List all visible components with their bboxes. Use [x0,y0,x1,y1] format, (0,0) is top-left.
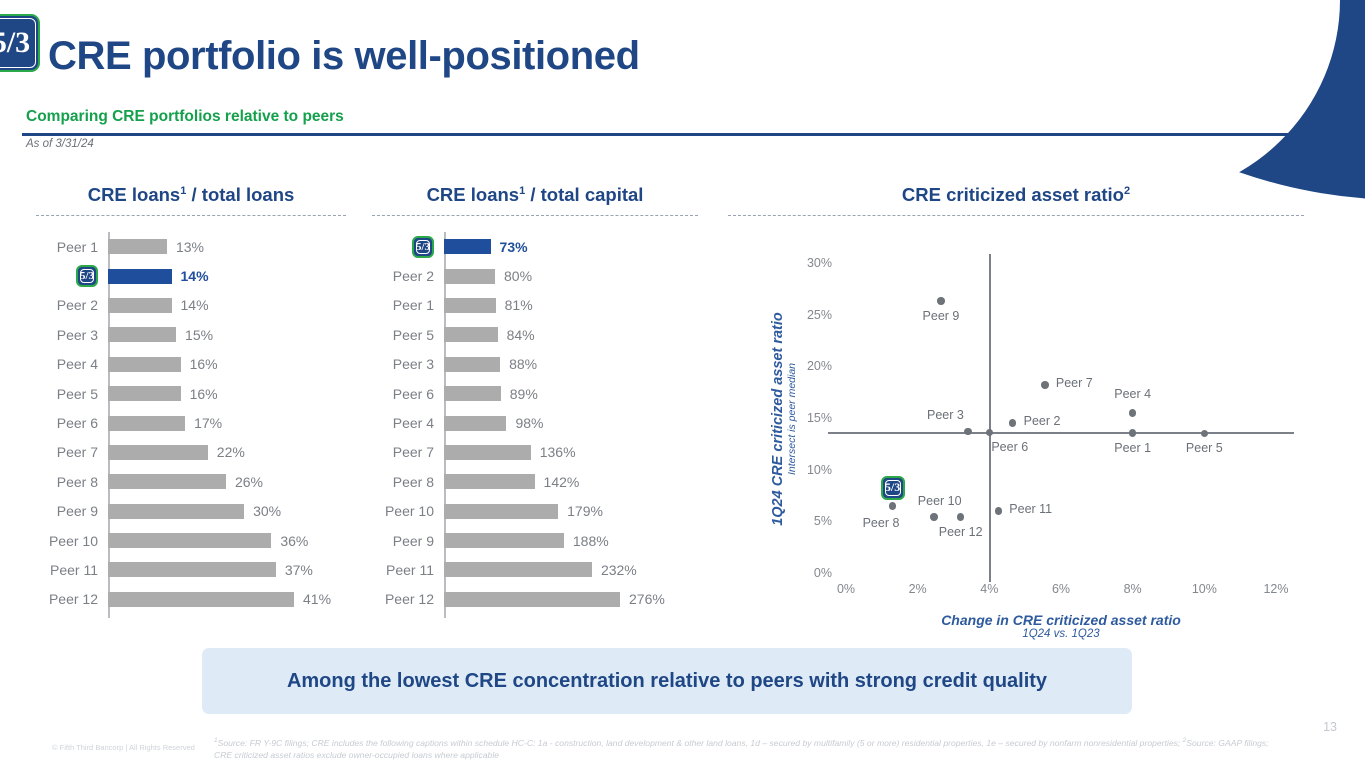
bar [444,474,535,489]
bar-category-label: Peer 2 [372,268,444,284]
bar-category-label: Peer 7 [36,444,108,460]
bar-row: Peer 280% [372,261,698,290]
panel-title-tail: / total loans [186,184,294,205]
bar-category-label: Peer 3 [372,356,444,372]
as-of-date: As of 3/31/24 [26,138,94,150]
bar [444,562,592,577]
page-title: CRE portfolio is well-positioned [48,34,640,79]
bar-row: Peer 617% [36,408,346,437]
scatter-point [1201,430,1209,438]
logo-glyph: 5/3 [0,16,38,70]
bar-row: 5/373% [372,232,698,261]
bar-row: Peer 10179% [372,497,698,526]
x-axis-tick-label: 12% [1251,582,1301,596]
x-axis-tick-label: 10% [1179,582,1229,596]
bar-row: Peer 689% [372,379,698,408]
bar [444,357,500,372]
bar-category-label: Peer 5 [372,327,444,343]
panel-title-text: CRE loans [427,184,520,205]
scatter-point-label: Peer 9 [915,309,967,323]
bar [108,416,185,431]
bar-value-label: 80% [504,268,532,284]
bar-category-label: Peer 11 [36,562,108,578]
bar-row: Peer 1241% [36,585,346,614]
bar-category-label: Peer 9 [36,503,108,519]
section-subheading: Comparing CRE portfolios relative to pee… [26,108,344,126]
bar-row: Peer 722% [36,438,346,467]
bar-value-label: 276% [629,591,665,607]
page-number: 13 [1323,720,1337,734]
panel-title-tail: / total capital [525,184,643,205]
panel-title-criticized: CRE criticized asset ratio2 [728,184,1304,206]
scatter-point-label: Peer 10 [918,494,962,508]
scatter-point-label: Peer 8 [863,516,900,530]
bar-row: Peer 498% [372,408,698,437]
copyright-text: © Fifth Third Bancorp | All Rights Reser… [52,743,195,752]
scatter-point-label: Peer 1 [1107,441,1159,455]
bar-row: Peer 930% [36,497,346,526]
scatter-point-label: Peer 6 [991,440,1028,454]
bar [444,592,620,607]
scatter-point [937,297,945,305]
bar [444,327,498,342]
bar-category-label: Peer 2 [36,297,108,313]
scatter-point [995,507,1003,515]
panel-cre-loans-total-loans: CRE loans1 / total loans Peer 113%5/314%… [36,184,346,618]
bar-category-label: Peer 11 [372,562,444,578]
bar-category-logo: 5/3 [36,265,108,287]
bar-category-label: Peer 7 [372,444,444,460]
bar [444,269,495,284]
bar-chart-total-loans: Peer 113%5/314%Peer 214%Peer 315%Peer 41… [36,232,346,618]
scatter-point [889,502,897,510]
bar-value-label: 14% [181,297,209,313]
fifth-third-logo-marker: 5/3 [76,265,98,287]
scatter-point-label: Peer 7 [1056,376,1093,390]
x-axis-tick-label: 4% [964,582,1014,596]
bar-value-label: 36% [280,533,308,549]
bar-row: Peer 516% [36,379,346,408]
bar-row: Peer 113% [36,232,346,261]
bar-category-label: Peer 10 [36,533,108,549]
slide: 5/3 CRE portfolio is well-positioned Com… [0,0,1365,768]
scatter-point [930,513,938,521]
bar-row: Peer 181% [372,291,698,320]
bar-value-label: 98% [515,415,543,431]
summary-banner: Among the lowest CRE concentration relat… [202,648,1132,714]
logo-glyph: 5/3 [883,478,903,498]
scatter-point [1009,419,1017,427]
scatter-point-label: Peer 11 [1009,502,1052,516]
bar [108,269,172,284]
bar-category-label: Peer 9 [372,533,444,549]
bar-row: Peer 584% [372,320,698,349]
bar-row: Peer 388% [372,350,698,379]
bar [444,445,531,460]
x-axis-title-main: Change in CRE criticized asset ratio [826,612,1296,628]
median-vertical-line [989,254,990,582]
x-axis-tick-label: 0% [821,582,871,596]
bar-row: Peer 315% [36,320,346,349]
bar [108,592,294,607]
bar-value-label: 13% [176,239,204,255]
bar-row: Peer 11232% [372,555,698,584]
bar-category-label: Peer 10 [372,503,444,519]
logo-glyph: 5/3 [414,238,432,256]
bar [108,327,176,342]
x-axis-tick-label: 8% [1108,582,1158,596]
scatter-plot: 0%5%10%15%20%25%30%0%2%4%6%8%10%12%Peer … [728,216,1304,636]
panel-cre-loans-total-capital: CRE loans1 / total capital 5/373%Peer 28… [372,184,698,618]
bar-category-label: Peer 1 [372,297,444,313]
corner-blue-shape [1135,0,1365,200]
bar-row: Peer 214% [36,291,346,320]
bar-category-label: Peer 8 [372,474,444,490]
panel-title-text: CRE criticized asset ratio [902,184,1124,205]
scatter-point [1129,429,1137,437]
bar-chart-total-capital: 5/373%Peer 280%Peer 181%Peer 584%Peer 38… [372,232,698,618]
bar-value-label: 26% [235,474,263,490]
panel-title-total-capital: CRE loans1 / total capital [372,184,698,206]
scatter-point [1041,381,1049,389]
bar-value-label: 41% [303,591,331,607]
fifth-third-logo: 5/3 [0,14,40,72]
bar-value-label: 15% [185,327,213,343]
fifth-third-logo-marker: 5/3 [412,236,434,258]
bar-value-label: 232% [601,562,637,578]
bar-row: Peer 416% [36,350,346,379]
scatter-point [1129,409,1137,417]
bar-value-label: 14% [181,268,209,284]
summary-banner-text: Among the lowest CRE concentration relat… [287,670,1047,693]
scatter-point-label: Peer 3 [906,408,964,422]
corner-white-cutout [1135,0,1340,200]
bar-value-label: 17% [194,415,222,431]
bar [108,386,181,401]
scatter-point [957,513,965,521]
bar-row: Peer 8142% [372,467,698,496]
bar-value-label: 30% [253,503,281,519]
bar-category-label: Peer 4 [372,415,444,431]
bar-value-label: 16% [190,386,218,402]
scatter-point-label: Peer 5 [1178,441,1230,455]
bar-category-label: Peer 5 [36,386,108,402]
bar [108,445,208,460]
bar-row: Peer 9188% [372,526,698,555]
bar-value-label: 89% [510,386,538,402]
panel-dash-divider [372,215,698,216]
panel-title-footnote-marker: 2 [1124,185,1130,197]
median-horizontal-line [828,432,1294,433]
scatter-point-label: Peer 2 [1024,414,1061,428]
bar-row: Peer 7136% [372,438,698,467]
bar-category-label: Peer 3 [36,327,108,343]
bar-category-label: Peer 6 [36,415,108,431]
bar-value-label: 16% [190,356,218,372]
bar-category-label: Peer 12 [372,591,444,607]
bar-category-label: Peer 4 [36,356,108,372]
bar-value-label: 37% [285,562,313,578]
bar-value-label: 73% [500,239,528,255]
bar-value-label: 188% [573,533,609,549]
bar [108,239,167,254]
bar-row: Peer 1036% [36,526,346,555]
bar-category-label: Peer 8 [36,474,108,490]
bar [108,562,276,577]
bar-row: 5/314% [36,261,346,290]
x-axis-title: Change in CRE criticized asset ratio1Q24… [826,612,1296,640]
bar [444,298,496,313]
panel-title-text: CRE loans [88,184,181,205]
x-axis-tick-label: 6% [1036,582,1086,596]
bar [108,298,172,313]
x-axis-tick-label: 2% [893,582,943,596]
fifth-third-logo-marker: 5/3 [881,476,905,500]
bar [108,474,226,489]
panel-dash-divider [36,215,346,216]
bar-value-label: 179% [567,503,603,519]
logo-glyph: 5/3 [78,267,96,285]
bar-row: Peer 1137% [36,555,346,584]
bar [108,504,244,519]
bar-value-label: 81% [505,297,533,313]
bar-value-label: 22% [217,444,245,460]
bar [444,533,564,548]
bar [444,239,491,254]
bar [444,386,501,401]
bar-category-label: Peer 6 [372,386,444,402]
scatter-point-label: Peer 4 [1107,387,1159,401]
corner-decoration [1135,0,1365,200]
bar-category-label: Peer 1 [36,239,108,255]
scatter-point [964,428,972,436]
bar [444,504,558,519]
bar-row: Peer 826% [36,467,346,496]
panel-title-total-loans: CRE loans1 / total loans [36,184,346,206]
footnote-line-1: Source: FR Y-9C filings; CRE includes th… [218,738,1183,748]
bar-value-label: 136% [540,444,576,460]
bar-value-label: 142% [544,474,580,490]
bar [108,357,181,372]
scatter-point [986,429,994,437]
x-axis-title-sub: 1Q24 vs. 1Q23 [826,628,1296,640]
bar-row: Peer 12276% [372,585,698,614]
y-axis-title-sub: Intersect is peer median [786,244,798,594]
bar [444,416,506,431]
header-divider [22,133,1304,136]
y-axis-title-main: 1Q24 CRE criticized asset ratio [770,244,786,594]
bar-value-label: 84% [507,327,535,343]
bar-category-logo: 5/3 [372,236,444,258]
y-axis-title: 1Q24 CRE criticized asset ratioIntersect… [770,244,798,594]
panel-cre-criticized-asset-ratio: CRE criticized asset ratio2 0%5%10%15%20… [728,184,1304,636]
scatter-point-label: Peer 12 [935,525,987,539]
bar-category-label: Peer 12 [36,591,108,607]
footnote-text: 1Source: FR Y-9C filings; CRE includes t… [214,736,1274,761]
bar-value-label: 88% [509,356,537,372]
bar [108,533,271,548]
